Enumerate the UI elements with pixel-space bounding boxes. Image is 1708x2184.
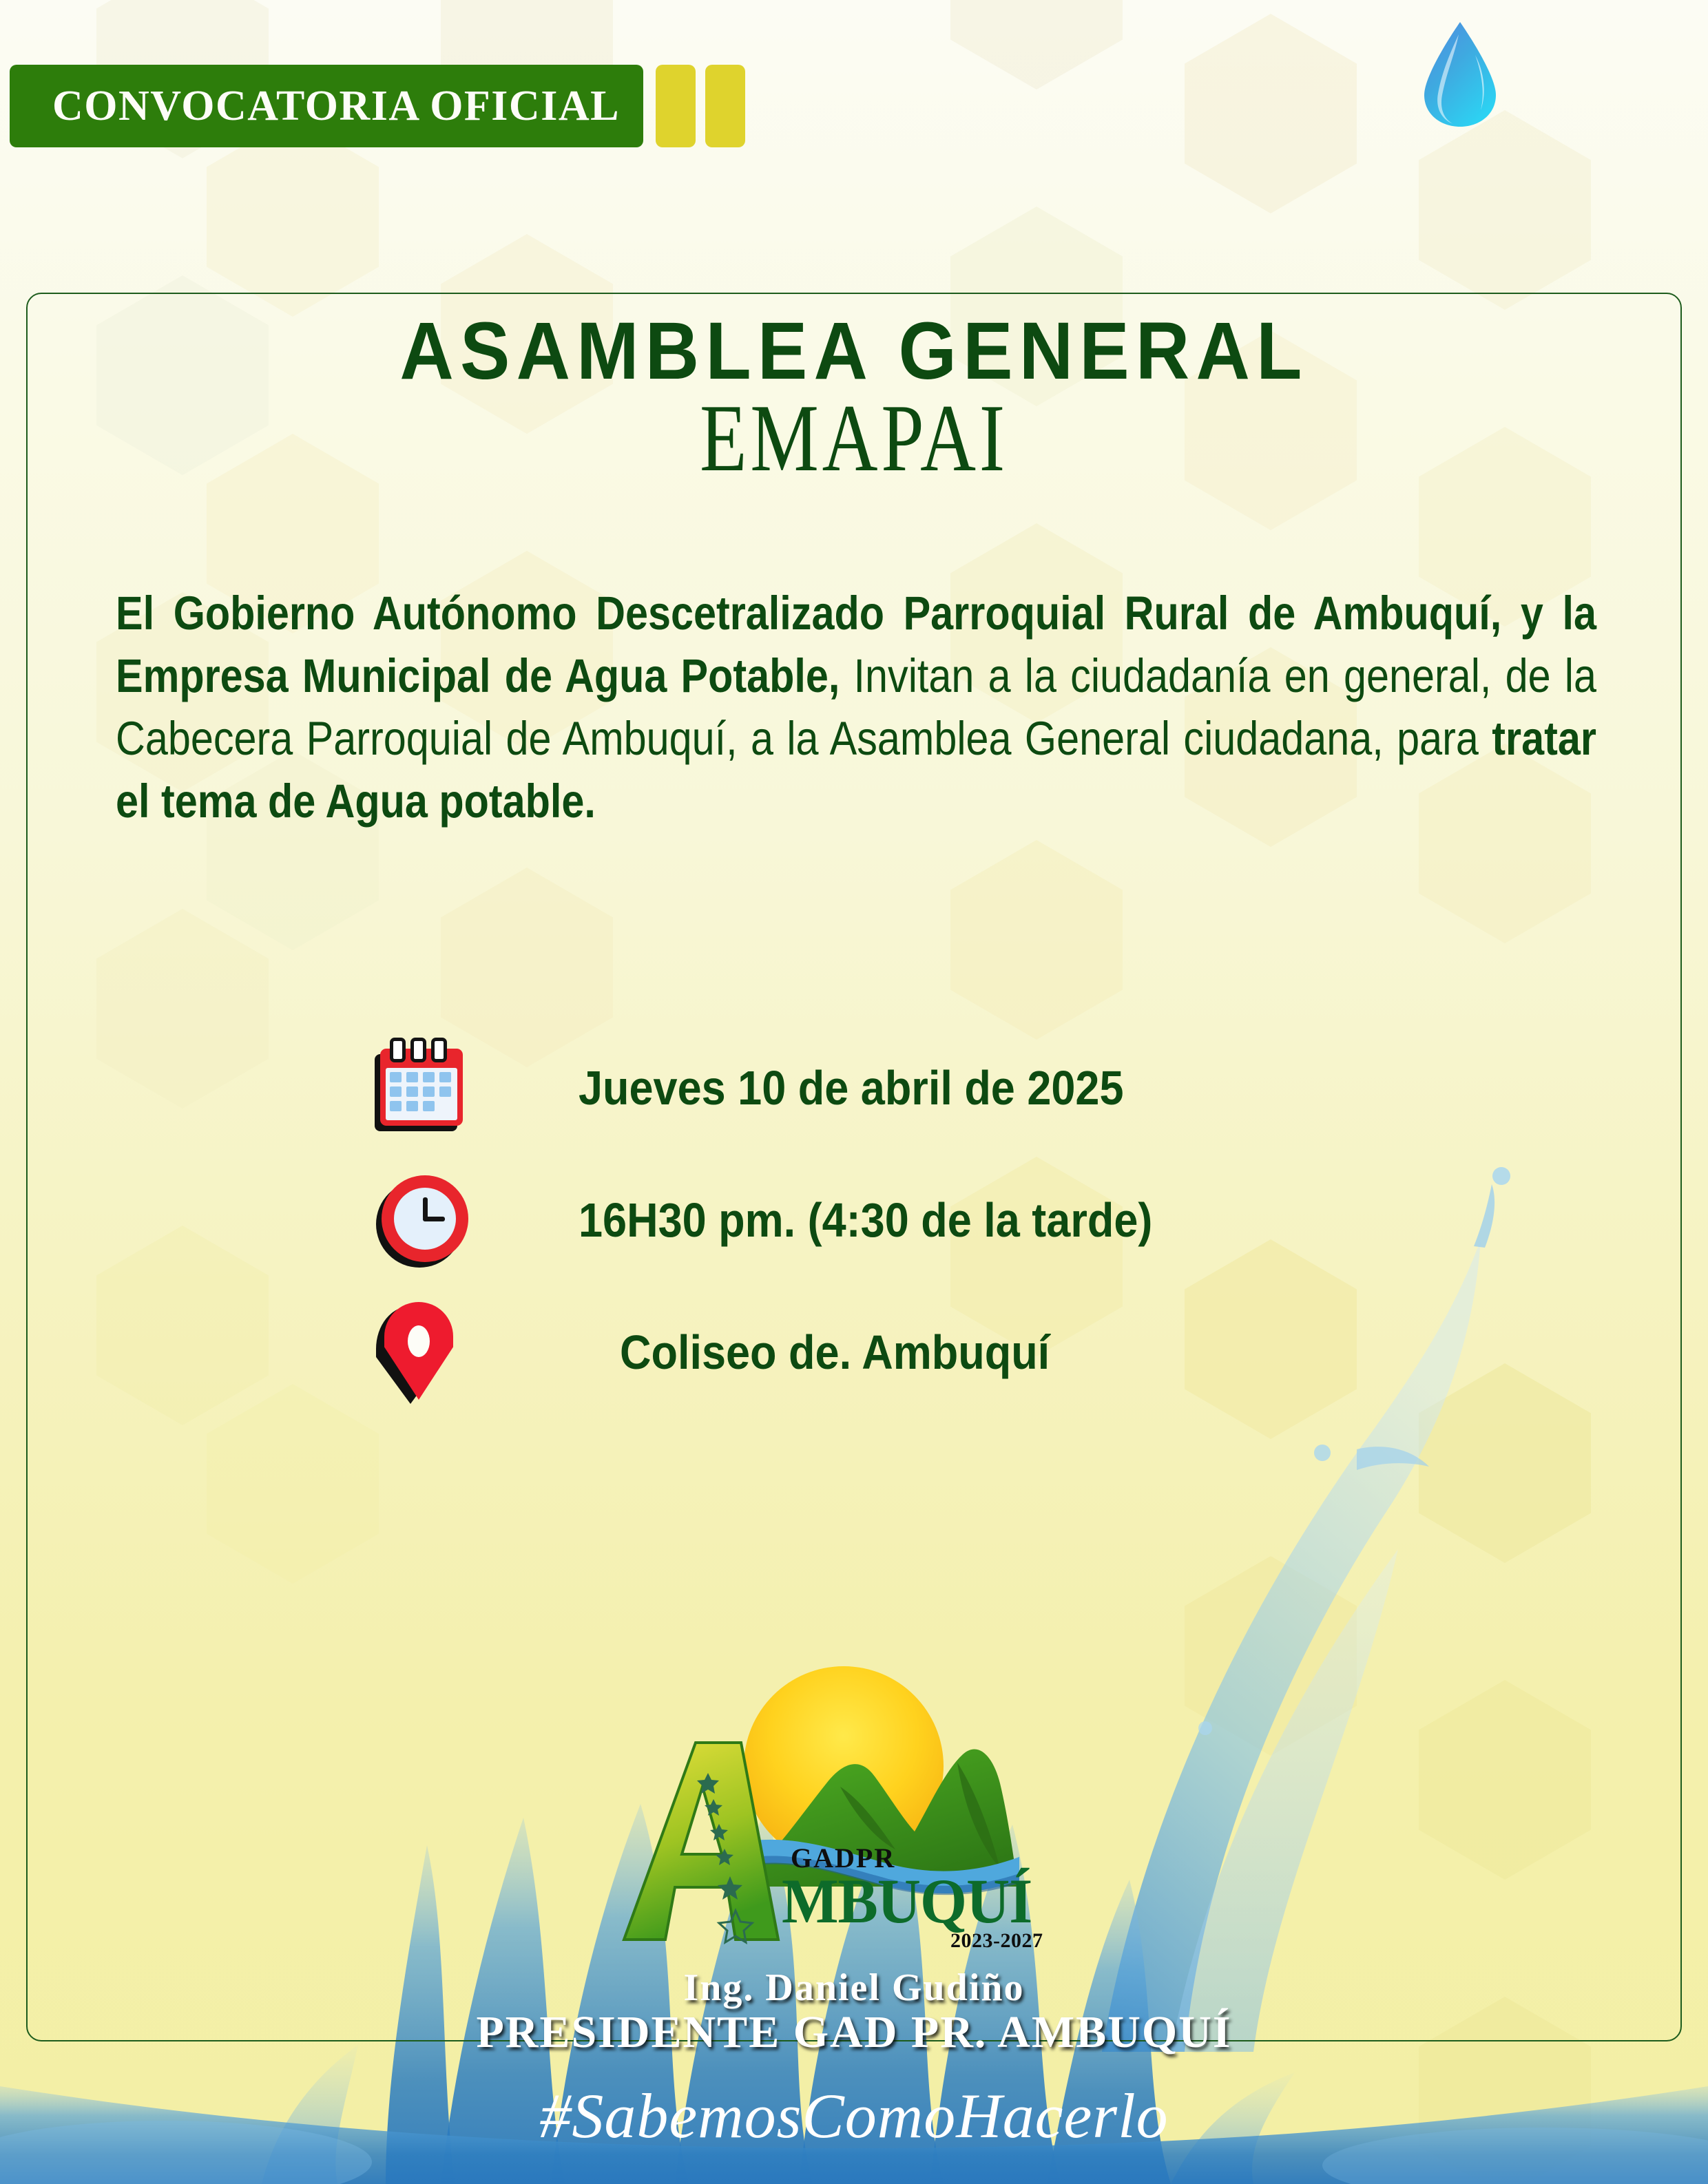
event-details: Jueves 10 de abril de 2025 16H30 pm. (4:… bbox=[372, 1033, 1405, 1429]
logo-name-label: MBUQUÍ bbox=[782, 1865, 1032, 1938]
convocatoria-banner: CONVOCATORIA OFICIAL bbox=[10, 65, 643, 147]
hashtag-slogan: #SabemosComoHacerlo bbox=[0, 2079, 1708, 2152]
signature-block: Ing. Daniel Gudiño PRESIDENTE GAD PR. AM… bbox=[0, 1968, 1708, 2056]
signature-name: Ing. Daniel Gudiño bbox=[0, 1968, 1708, 2008]
page-subtitle: EMAPAI bbox=[171, 383, 1537, 494]
clock-icon bbox=[372, 1168, 482, 1272]
detail-row-place: Coliseo de. Ambuquí bbox=[372, 1297, 1405, 1407]
logo-period-label: 2023-2027 bbox=[950, 1929, 1043, 1953]
location-pin-icon bbox=[372, 1301, 482, 1404]
signature-role: PRESIDENTE GAD PR. AMBUQUÍ bbox=[0, 2008, 1708, 2056]
banner-label: CONVOCATORIA OFICIAL bbox=[10, 82, 620, 131]
accent-bar-2 bbox=[705, 65, 745, 147]
ambuqui-gadpr-logo: GADPR MBUQUÍ 2023-2027 bbox=[606, 1632, 1047, 1976]
detail-time-label: 16H30 pm. (4:30 de la tarde) bbox=[579, 1193, 1152, 1248]
detail-row-time: 16H30 pm. (4:30 de la tarde) bbox=[372, 1165, 1405, 1275]
detail-date-label: Jueves 10 de abril de 2025 bbox=[579, 1060, 1124, 1115]
logo-letter-a-icon bbox=[620, 1739, 785, 1945]
poster-canvas: CONVOCATORIA OFICIAL ASAMBLEA GENERAL EM… bbox=[0, 0, 1708, 2184]
detail-place-label: Coliseo de. Ambuquí bbox=[620, 1325, 1050, 1380]
body-paragraph: El Gobierno Autónomo Descetralizado Parr… bbox=[116, 582, 1596, 832]
detail-row-date: Jueves 10 de abril de 2025 bbox=[372, 1033, 1405, 1143]
calendar-icon bbox=[372, 1036, 482, 1140]
water-drop-icon bbox=[1419, 19, 1501, 129]
accent-bar-1 bbox=[656, 65, 696, 147]
